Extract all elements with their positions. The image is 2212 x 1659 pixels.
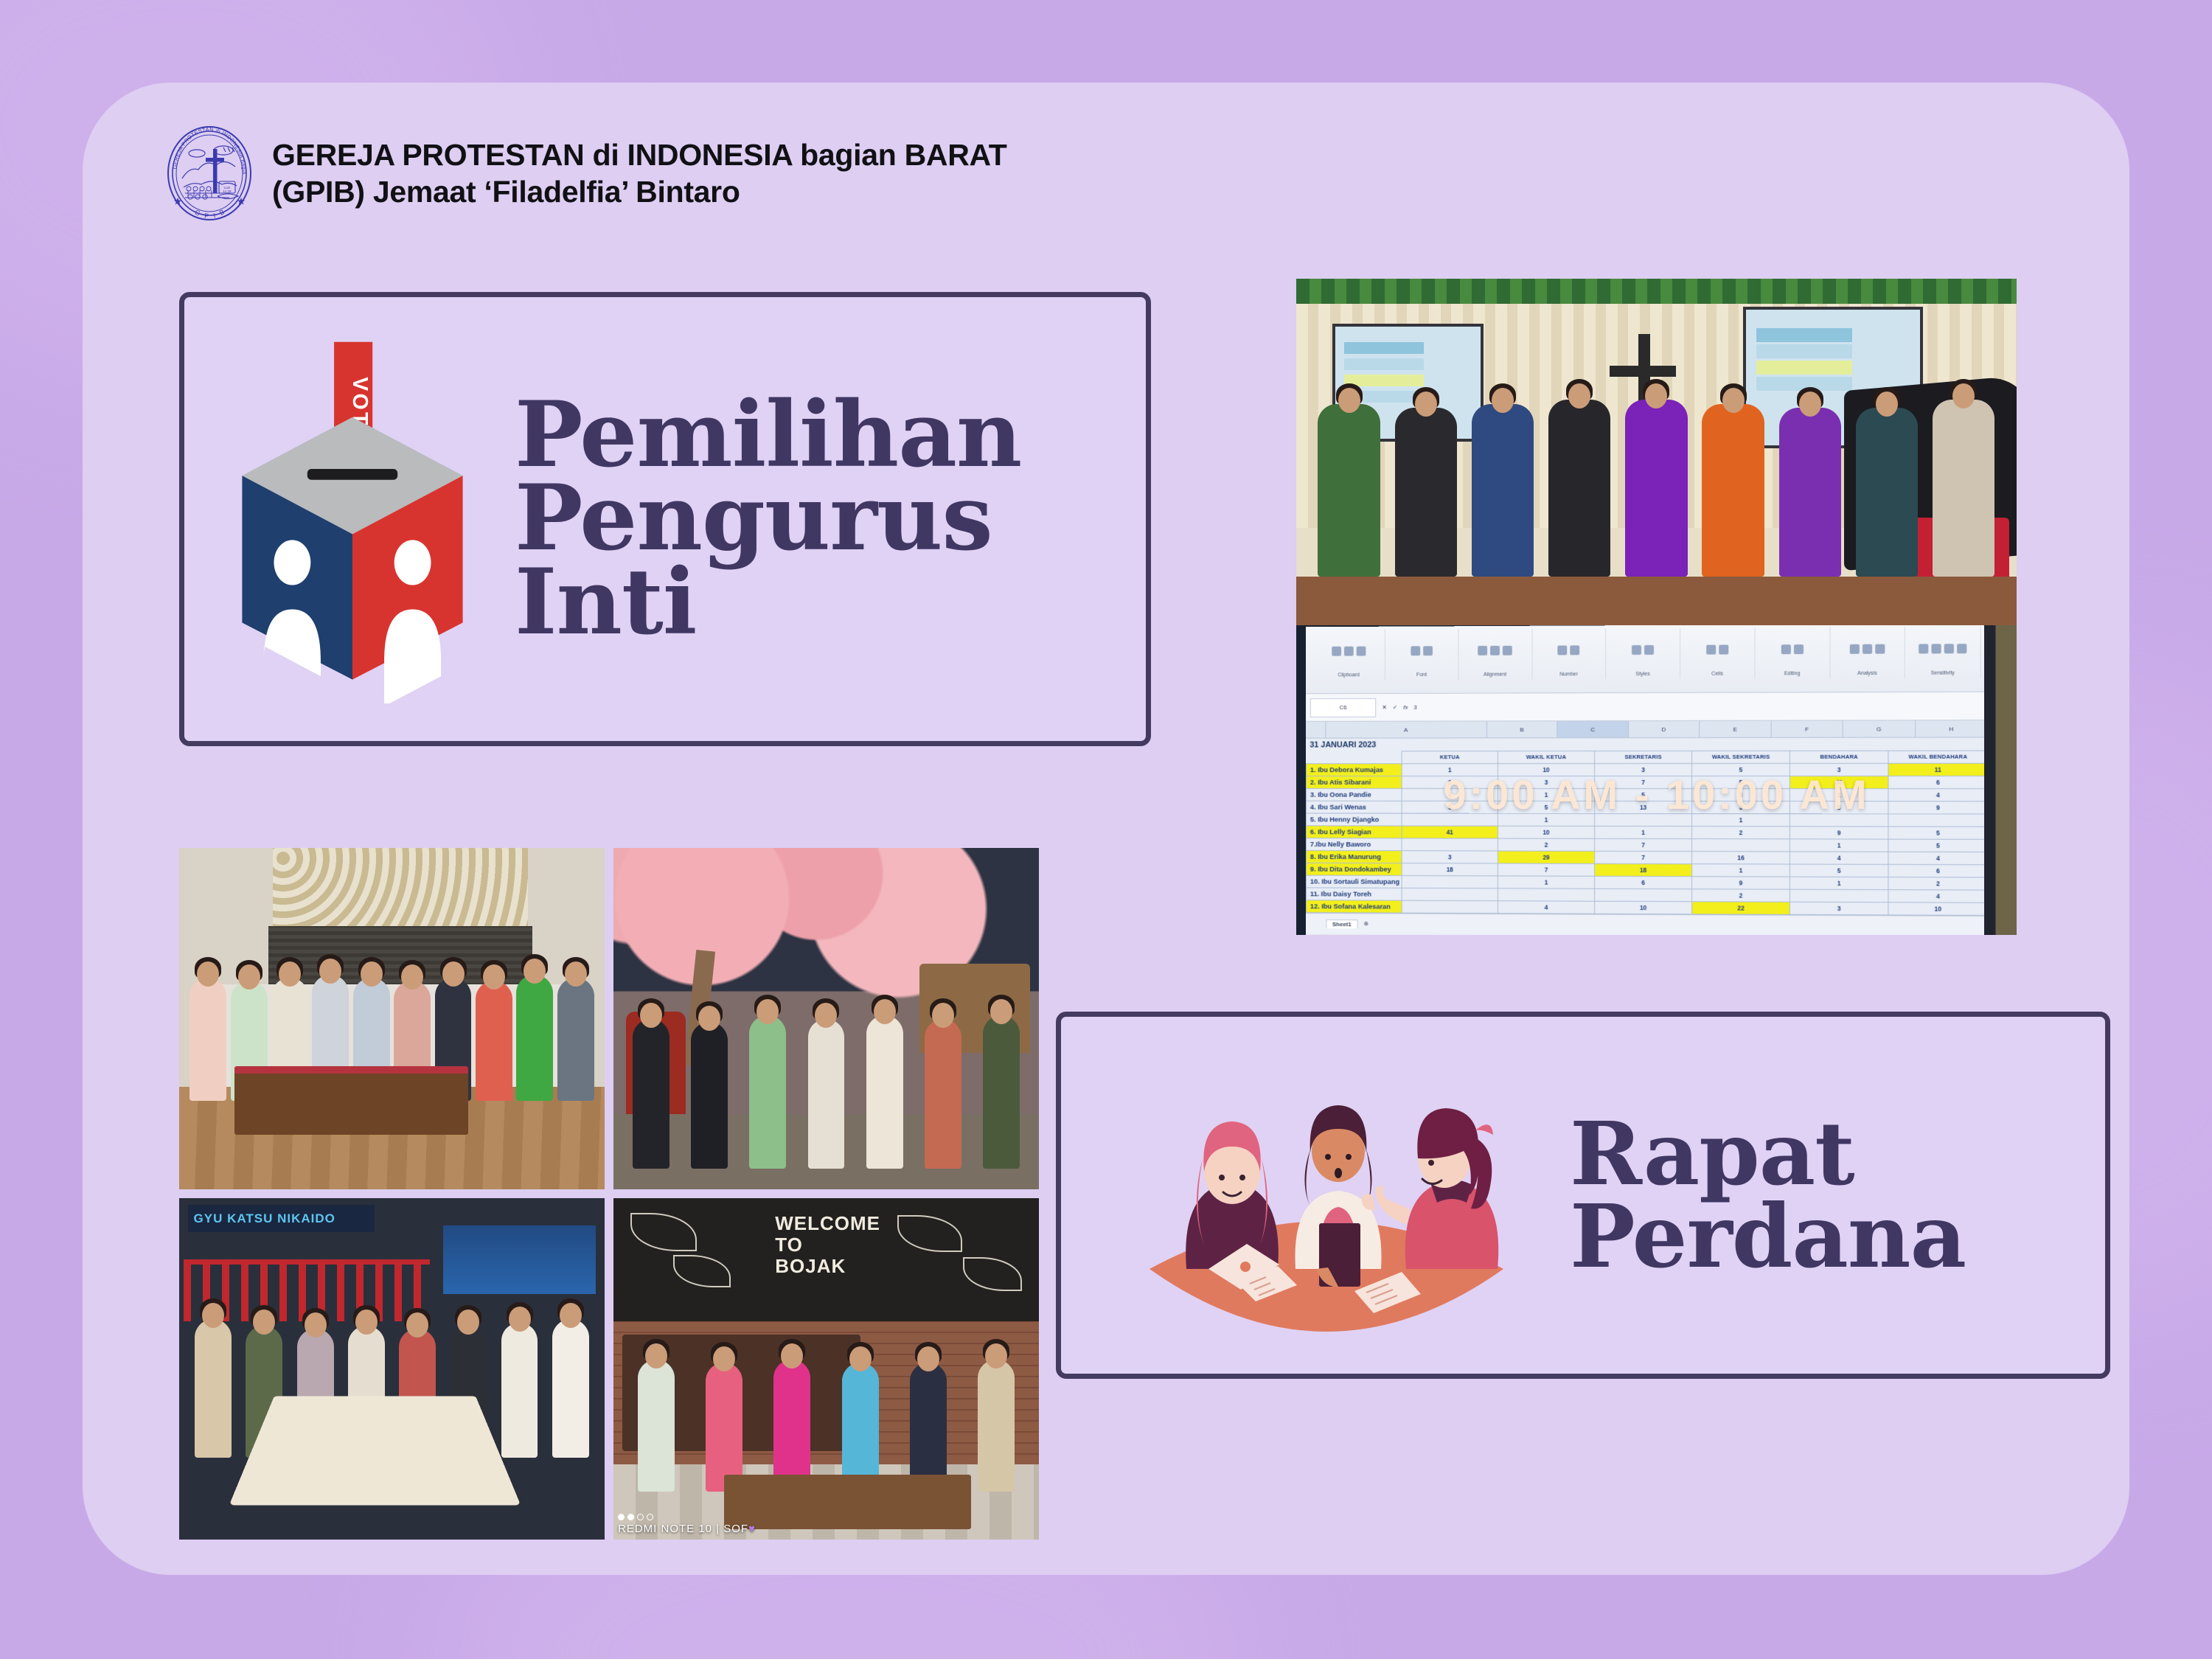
sheet-candidate-name[interactable]: 7.Ibu Nelly Baworo <box>1306 838 1402 850</box>
camera-mode-dots-icon <box>618 1514 756 1520</box>
ribbon-tool-icon[interactable] <box>1478 646 1487 655</box>
bojak-mural-text: WELCOME TO BOJAK <box>775 1213 880 1277</box>
sheet-row[interactable]: 1. Ibu Debora Kumajas11035311 <box>1306 763 1987 776</box>
sheet-column-wakil-ketua: WAKIL KETUA <box>1498 751 1594 763</box>
excel-formula-value: 3 <box>1413 704 1416 711</box>
sheet-vote-cell[interactable]: 1 <box>1498 876 1594 888</box>
sheet-vote-cell[interactable]: 1 <box>1402 763 1498 776</box>
sheet-vote-cell[interactable]: 10 <box>1498 763 1594 776</box>
pemilihan-pengurus-inti-card: VOTE Pemilihan Pengurus Inti <box>179 292 1151 746</box>
sheet-row[interactable]: 12. Ibu Sofana Kalesaran41022310 <box>1306 900 1987 916</box>
sheet-vote-cell[interactable]: 18 <box>1595 863 1692 876</box>
ribbon-group-label: Clipboard <box>1338 672 1359 678</box>
sheet-vote-cell[interactable]: 2 <box>1498 838 1594 851</box>
header-line-2: (GPIB) Jemaat ‘Filadelfia’ Bintaro <box>272 173 1007 210</box>
ribbon-tool-icon[interactable] <box>1919 644 1928 653</box>
sheet-candidate-name[interactable]: 5. Ibu Henny Djangko <box>1306 813 1402 826</box>
column-header-C[interactable]: C <box>1557 721 1628 737</box>
ribbon-icon-cluster[interactable] <box>1849 627 1885 671</box>
excel-ribbon: ClipboardFontAlignmentNumberStylesCellsE… <box>1306 625 1988 695</box>
bojak-cafe-group-photo: WELCOME TO BOJAK <box>613 1198 1039 1540</box>
sheet-vote-cell[interactable]: 10 <box>1888 902 1987 916</box>
ribbon-group-sensitivity[interactable]: Sensitivity <box>1905 626 1981 678</box>
sheet-vote-cell[interactable]: 2 <box>1692 826 1790 838</box>
sheet-candidate-name[interactable]: 10. Ibu Sortauli Simatupang <box>1306 875 1402 888</box>
sheet-vote-cell[interactable]: 1 <box>1692 863 1790 876</box>
sheet-vote-cell[interactable]: 3 <box>1692 801 1790 813</box>
ribbon-group-label: Cells <box>1711 672 1723 677</box>
ribbon-tool-icon[interactable] <box>1849 644 1859 654</box>
ribbon-tool-icon[interactable] <box>1343 647 1353 656</box>
ribbon-group-label: Styles <box>1635 672 1649 677</box>
excel-formula-bar[interactable]: C6 ✕ ✓ fx 3 <box>1306 692 1988 722</box>
column-header-H[interactable]: H <box>1916 720 1988 737</box>
ribbon-group-label: Alignment <box>1484 672 1506 678</box>
ribbon-tool-icon[interactable] <box>1411 646 1420 655</box>
column-header-D[interactable]: D <box>1629 721 1700 737</box>
ribbon-tool-icon[interactable] <box>1875 644 1885 653</box>
mural-line-3: BOJAK <box>775 1256 880 1277</box>
svg-text:11:28: 11:28 <box>223 189 232 193</box>
sheet-vote-cell[interactable]: 1 <box>1595 826 1692 838</box>
ribbon-tool-icon[interactable] <box>1944 644 1954 653</box>
ribbon-icon-cluster[interactable] <box>1781 627 1803 672</box>
excel-sheet-tabs[interactable]: Sheet1 ⊕ <box>1306 913 1988 935</box>
column-header-B[interactable]: B <box>1487 721 1558 737</box>
sheet-candidate-name[interactable]: 3. Ibu Oona Pandie <box>1306 788 1402 801</box>
ribbon-group-label: Font <box>1416 672 1427 678</box>
sheet-row[interactable]: 2. Ibu Atis Sibarani2375406 <box>1306 776 1987 788</box>
column-header-E[interactable]: E <box>1700 721 1771 737</box>
ribbon-tool-icon[interactable] <box>1793 644 1803 654</box>
sheet-vote-cell[interactable]: 16 <box>1692 851 1790 863</box>
sheet-column-wakil-sekretaris: WAKIL SEKRETARIS <box>1692 751 1790 763</box>
sheet-vote-cell[interactable]: 1 <box>1498 788 1594 801</box>
rapat-title-line-1: Rapat <box>1570 1113 1966 1195</box>
ribbon-icon-cluster[interactable] <box>1919 627 1966 671</box>
sheet-vote-cell[interactable] <box>1402 875 1498 888</box>
sheet-vote-cell[interactable]: 9 <box>1888 801 1987 814</box>
ribbon-icon-cluster[interactable] <box>1478 628 1512 672</box>
sheet-vote-cell[interactable]: 4 <box>1888 852 1987 864</box>
sheet-vote-cell[interactable]: 3 <box>1790 763 1888 776</box>
pemilihan-title-line-2: Pengurus <box>515 477 1021 560</box>
ribbon-group-clipboard[interactable]: Clipboard <box>1312 629 1385 680</box>
ribbon-group-editing[interactable]: Editing <box>1755 627 1830 678</box>
sheet-vote-cell[interactable]: 2 <box>1888 877 1987 890</box>
sheet-vote-cell[interactable]: 4 <box>1888 889 1987 902</box>
header-line-1: GEREJA PROTESTAN di INDONESIA bagian BAR… <box>272 136 1007 173</box>
sheet-vote-cell[interactable]: 3 <box>1790 902 1888 915</box>
ribbon-tool-icon[interactable] <box>1332 647 1341 656</box>
sheet-vote-cell[interactable] <box>1692 838 1790 851</box>
sheet-vote-cell[interactable]: 5 <box>1888 839 1987 852</box>
ribbon-tool-icon[interactable] <box>1503 646 1512 655</box>
sheet-vote-cell[interactable]: 2 <box>1692 889 1790 902</box>
sheet-vote-cell[interactable]: 40 <box>1790 776 1888 788</box>
sheet-vote-cell[interactable]: 5 <box>1498 801 1594 813</box>
photo-watermark: REDMI NOTE 10 | SOF♥ <box>618 1514 756 1535</box>
sheet-column-sekretaris: SEKRETARIS <box>1595 751 1692 763</box>
excel-column-headers: ABCDEFGH <box>1306 720 1988 739</box>
sheet-candidate-name[interactable]: 11. Ibu Daisy Toreh <box>1306 888 1402 900</box>
ribbon-tool-icon[interactable] <box>1356 646 1366 655</box>
sheet-vote-cell[interactable]: 4 <box>1888 788 1987 801</box>
sheet-vote-cell[interactable]: 9 <box>1790 827 1888 839</box>
sheet-vote-cell[interactable]: 5 <box>1595 788 1692 801</box>
mural-line-2: TO <box>775 1234 880 1256</box>
sheet-header-row: KETUAWAKIL KETUASEKRETARISWAKIL SEKRETAR… <box>1306 751 1987 764</box>
formula-accept-icon[interactable]: ✓ <box>1393 704 1398 711</box>
sheet-vote-cell[interactable] <box>1402 813 1498 826</box>
ribbon-group-label: Analysis <box>1857 671 1877 676</box>
sheet-vote-cell[interactable]: 10 <box>1595 901 1692 914</box>
sheet-vote-cell[interactable]: 1 <box>1790 839 1888 852</box>
ballot-box-vote-icon: VOTE <box>220 320 485 718</box>
ribbon-tool-icon[interactable] <box>1863 644 1872 654</box>
excel-grid: 31 JANUARI 2023KETUAWAKIL KETUASEKRETARI… <box>1306 738 1988 916</box>
watermark-text: REDMI NOTE 10 | SOF <box>618 1523 748 1535</box>
sheet-vote-cell[interactable]: 4 <box>1790 852 1888 864</box>
sheet-date-title: 31 JANUARI 2023 <box>1306 738 1987 751</box>
select-all-corner[interactable] <box>1306 722 1326 738</box>
sheet-vote-cell[interactable]: 5 <box>1790 864 1888 877</box>
sheet-tab-1[interactable]: Sheet1 <box>1326 919 1357 928</box>
sheet-vote-cell[interactable]: 13 <box>1595 801 1692 813</box>
sheet-vote-cell[interactable]: 4 <box>1498 901 1594 914</box>
sheet-vote-cell[interactable]: 7 <box>1498 863 1594 876</box>
sheet-vote-cell[interactable]: 29 <box>1498 851 1594 863</box>
ribbon-group-number[interactable]: Number <box>1532 628 1606 680</box>
rapat-perdana-card: Rapat Perdana <box>1056 1012 2110 1379</box>
rapat-title: Rapat Perdana <box>1570 1113 1966 1278</box>
sheet-candidate-name[interactable]: 9. Ibu Dita Dondokambey <box>1306 863 1402 875</box>
sheet-vote-cell[interactable]: 7 <box>1595 776 1692 788</box>
sheet-vote-cell[interactable]: 9 <box>1692 876 1790 888</box>
svg-text:GEREJA PROTESTAN di INDONESIA: GEREJA PROTESTAN di INDONESIA bagian BAR… <box>166 125 248 175</box>
sheet-vote-cell[interactable]: 5 <box>1402 801 1498 813</box>
sheet-vote-cell[interactable]: 5 <box>1692 763 1790 776</box>
ribbon-group-analysis[interactable]: Analysis <box>1830 627 1905 678</box>
sheet-vote-cell[interactable]: 7 <box>1595 851 1692 863</box>
sheet-candidate-name[interactable]: 6. Ibu Lelly Siagian <box>1306 826 1402 838</box>
sheet-vote-cell[interactable] <box>1790 889 1888 902</box>
watermark-heart-icon: ♥ <box>748 1523 756 1535</box>
sheet-vote-cell[interactable]: 7 <box>1595 838 1692 851</box>
ribbon-icon-cluster[interactable] <box>1706 627 1728 672</box>
ribbon-tool-icon[interactable] <box>1957 644 1966 653</box>
ribbon-tool-icon[interactable] <box>1558 645 1568 655</box>
column-header-F[interactable]: F <box>1771 721 1843 737</box>
sheet-vote-cell[interactable] <box>1595 813 1692 826</box>
sheet-vote-cell[interactable]: 5 <box>1790 801 1888 813</box>
restaurant-dinner-group-photo: GYU KATSU NIKAIDO <box>179 1198 605 1540</box>
sheet-vote-cell[interactable] <box>1888 814 1987 827</box>
ribbon-tool-icon[interactable] <box>1644 645 1654 655</box>
ribbon-tool-icon[interactable] <box>1706 644 1716 654</box>
sheet-column-bendahara: BENDAHARA <box>1790 751 1888 763</box>
ribbon-tool-icon[interactable] <box>1781 644 1790 654</box>
sheet-vote-cell[interactable]: 3 <box>1692 788 1790 801</box>
column-header-G[interactable]: G <box>1843 721 1916 737</box>
sheet-vote-cell[interactable]: 3 <box>1595 763 1692 776</box>
sheet-candidate-name[interactable]: 8. Ibu Erika Manurung <box>1306 850 1402 863</box>
rapat-title-line-2: Perdana <box>1570 1195 1966 1278</box>
sheet-column-ketua: KETUA <box>1402 751 1498 763</box>
sheet-row[interactable]: 7.Ibu Nelly Baworo2715 <box>1306 838 1987 852</box>
sheet-vote-cell[interactable]: 6 <box>1595 876 1692 888</box>
ribbon-tool-icon[interactable] <box>1931 644 1941 653</box>
gyu-katsu-sign: GYU KATSU NIKAIDO <box>188 1205 375 1232</box>
sheet-row[interactable]: 3. Ibu Oona Pandie415314 <box>1306 788 1987 801</box>
pemilihan-title: Pemilihan Pengurus Inti <box>515 394 1021 644</box>
excel-vote-tally-photo: ClipboardFontAlignmentNumberStylesCellsE… <box>1296 625 2017 935</box>
sheet-vote-cell[interactable]: 41 <box>1402 826 1498 838</box>
sheet-date-row: 31 JANUARI 2023 <box>1306 738 1987 751</box>
header: GEREJA PROTESTAN di INDONESIA bagian BAR… <box>166 125 1007 221</box>
ribbon-icon-cluster[interactable] <box>1558 628 1580 672</box>
three-women-meeting-illustration <box>1098 1048 1555 1343</box>
ribbon-group-cells[interactable]: Cells <box>1680 627 1755 679</box>
ribbon-tool-icon[interactable] <box>1490 646 1500 655</box>
sheet-candidate-name[interactable]: 4. Ibu Sari Wenas <box>1306 801 1402 813</box>
gpib-seal-logo: GEREJA PROTESTAN di INDONESIA bagian BAR… <box>166 125 253 221</box>
monitor-bezel <box>1984 625 2017 935</box>
photo-collage: GYU KATSU NIKAIDO <box>179 848 1039 1540</box>
church-leadership-group-photo <box>1296 279 2017 625</box>
sheet-vote-cell[interactable] <box>1595 888 1692 901</box>
sheet-vote-cell[interactable]: 1 <box>1498 813 1594 826</box>
sheet-column-wakil-bendahara: WAKIL BENDAHARA <box>1888 751 1987 763</box>
column-header-A[interactable]: A <box>1326 722 1487 738</box>
sheet-vote-cell[interactable]: 6 <box>1888 776 1987 788</box>
formula-cancel-icon[interactable]: ✕ <box>1382 704 1387 711</box>
sheet-vote-cell[interactable]: 6 <box>1888 864 1987 877</box>
ribbon-icon-cluster[interactable] <box>1632 628 1654 672</box>
sheet-vote-cell[interactable] <box>1790 813 1888 826</box>
sheet-row[interactable]: 5. Ibu Henny Djangko11 <box>1306 813 1987 827</box>
sheet-candidate-name[interactable]: 2. Ibu Atis Sibarani <box>1306 776 1402 788</box>
sheet-vote-cell[interactable]: 10 <box>1498 826 1594 838</box>
sheet-vote-cell[interactable] <box>1402 888 1498 900</box>
sheet-vote-cell[interactable] <box>1402 838 1498 851</box>
sheet-header-blank <box>1306 751 1402 764</box>
mural-line-1: WELCOME <box>775 1213 880 1234</box>
sheet-vote-cell[interactable]: 22 <box>1692 902 1790 915</box>
sheet-vote-cell[interactable]: 4 <box>1402 788 1498 801</box>
sheet-candidate-name[interactable]: 1. Ibu Debora Kumajas <box>1306 763 1402 776</box>
sheet-vote-cell[interactable]: 1 <box>1790 788 1888 801</box>
sheet-vote-cell[interactable]: 1 <box>1692 813 1790 826</box>
ribbon-group-font[interactable]: Font <box>1385 629 1458 680</box>
pemilihan-title-line-3: Inti <box>515 561 1021 644</box>
sheet-vote-cell[interactable]: 5 <box>1888 827 1987 839</box>
formula-fx-icon[interactable]: fx <box>1403 704 1408 711</box>
ribbon-tool-icon[interactable] <box>1632 645 1641 655</box>
sheet-vote-cell[interactable]: 1 <box>1790 877 1888 890</box>
add-sheet-icon[interactable]: ⊕ <box>1363 921 1368 928</box>
living-room-group-photo <box>179 848 605 1189</box>
sheet-row[interactable]: 4. Ibu Sari Wenas5513359 <box>1306 801 1987 814</box>
ribbon-tool-icon[interactable] <box>1423 646 1433 655</box>
ribbon-group-alignment[interactable]: Alignment <box>1458 628 1532 680</box>
sheet-vote-cell[interactable] <box>1402 900 1498 913</box>
ribbon-icon-cluster[interactable] <box>1332 629 1366 672</box>
ribbon-tool-icon[interactable] <box>1570 645 1579 655</box>
ribbon-group-label: Sensitivity <box>1931 671 1955 676</box>
excel-name-box[interactable]: C6 <box>1310 698 1377 717</box>
sheet-vote-cell[interactable]: 5 <box>1692 776 1790 788</box>
ribbon-tool-icon[interactable] <box>1719 644 1728 654</box>
sakura-mall-group-photo <box>613 848 1039 1189</box>
sheet-vote-cell[interactable]: 3 <box>1498 776 1594 788</box>
sheet-vote-cell[interactable]: 18 <box>1402 863 1498 875</box>
sheet-vote-cell[interactable]: 11 <box>1888 763 1987 776</box>
sheet-vote-cell[interactable]: 3 <box>1402 851 1498 863</box>
sheet-vote-cell[interactable] <box>1498 888 1594 901</box>
ribbon-group-label: Editing <box>1784 671 1801 676</box>
ribbon-group-styles[interactable]: Styles <box>1606 627 1680 679</box>
ribbon-icon-cluster[interactable] <box>1411 629 1433 672</box>
sheet-vote-cell[interactable]: 2 <box>1402 776 1498 788</box>
header-text: GEREJA PROTESTAN di INDONESIA bagian BAR… <box>272 136 1007 210</box>
sheet-row[interactable]: 6. Ibu Lelly Siagian41101295 <box>1306 826 1987 840</box>
sheet-candidate-name[interactable]: 12. Ibu Sofana Kalesaran <box>1306 900 1402 913</box>
ribbon-group-label: Number <box>1559 672 1578 677</box>
